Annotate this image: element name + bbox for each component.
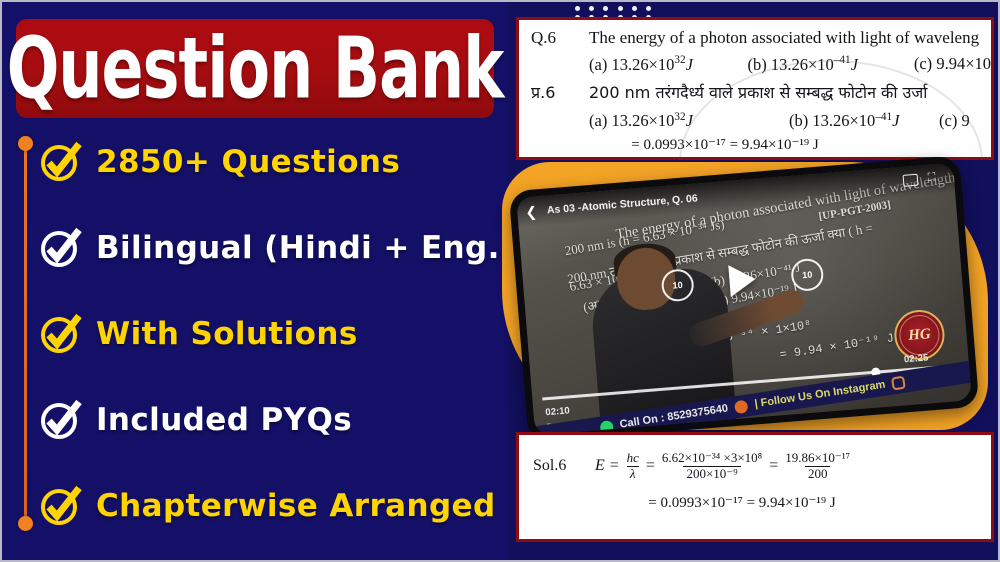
check-circle-icon (40, 314, 80, 354)
play-icon[interactable] (728, 263, 756, 297)
list-item: 2850+ Questions (40, 130, 500, 194)
title-banner: Question Bank (16, 19, 494, 118)
picture-in-picture-icon[interactable] (903, 174, 919, 187)
list-item: Chapterwise Arranged (40, 474, 500, 538)
instagram-icon (891, 375, 906, 390)
timeline-line (24, 142, 27, 524)
list-item: Bilingual (Hindi + Eng.) (40, 216, 500, 280)
board-line-10: = 9.94 × 10⁻¹⁹ J (779, 330, 895, 362)
video-time-total: 02:25 (904, 352, 929, 365)
fraction-numerator: 6.62×10⁻³⁴ ×3×10⁸ (659, 451, 765, 466)
rewind-10-button[interactable]: 10 (660, 268, 694, 302)
fraction-denominator: 200 (805, 466, 831, 482)
question-hindi-row: प्र.6 200 nm तरंगदैर्ध्य वाले प्रकाश से … (519, 75, 991, 103)
solution-result-line: = 0.0993×10⁻¹⁷ = 9.94×10⁻¹⁹ J (519, 481, 991, 512)
feature-list: 2850+ Questions Bilingual (Hindi + Eng.)… (40, 130, 500, 560)
fraction-denominator: 200×10⁻⁹ (683, 466, 740, 482)
fraction-hc-lambda: hc λ (624, 451, 642, 481)
option-b-english: (b) 13.26×10–41J (747, 54, 913, 75)
promo-panel: Question Bank 2850+ Questions Bilingual … (2, 2, 508, 560)
list-item-label: 2850+ Questions (96, 144, 400, 180)
content-column: Q.6 The energy of a photon associated wi… (508, 2, 1000, 560)
fraction-result-expression: 19.86×10⁻¹⁷ 200 (782, 451, 853, 481)
fraction-planck-expression: 6.62×10⁻³⁴ ×3×10⁸ 200×10⁻⁹ (659, 451, 765, 481)
option-a-hindi: (a) 13.26×1032J (589, 111, 789, 132)
video-player-phone[interactable]: The energy of a photon associated with l… (509, 155, 980, 442)
options-english: (a) 13.26×1032J (b) 13.26×10–41J (c) 9.9… (519, 48, 991, 75)
question-tag-hindi: प्र.6 (531, 81, 589, 103)
list-item: With Solutions (40, 302, 500, 366)
option-c-english: (c) 9.94×10 (914, 54, 991, 75)
question-english-row: Q.6 The energy of a photon associated wi… (519, 20, 991, 48)
option-c-hindi: (c) 9 (939, 111, 970, 132)
check-circle-icon (40, 400, 80, 440)
list-item-label: Chapterwise Arranged (96, 488, 496, 524)
list-item-label: Included PYQs (96, 402, 352, 438)
option-b-hindi: (b) 13.26×10–41J (789, 111, 939, 132)
list-item-label: Bilingual (Hindi + Eng.) (96, 230, 508, 266)
page-title: Question Bank (7, 19, 504, 117)
question-text-english: The energy of a photon associated with l… (589, 28, 979, 48)
option-a-english: (a) 13.26×1032J (589, 54, 747, 75)
timeline-dot-bottom (18, 516, 33, 531)
question-trailing-line: = 0.0993×10⁻¹⁷ = 9.94×10⁻¹⁹ J (519, 131, 991, 154)
question-text-hindi: 200 nm तरंगदैर्ध्य वाले प्रकाश से सम्बद्… (589, 81, 927, 103)
question-card: Q.6 The energy of a photon associated wi… (516, 17, 994, 160)
solution-tag: Sol.6 (533, 457, 595, 475)
phone-icon (734, 399, 749, 414)
video-title: As 03 -Atomic Structure, Q. 06 (547, 192, 699, 216)
check-circle-icon (40, 142, 80, 182)
video-screen[interactable]: The energy of a photon associated with l… (516, 163, 972, 435)
timeline-dot-top (18, 136, 33, 151)
video-time-current: 02:10 (545, 405, 570, 418)
fraction-denominator: λ (627, 466, 639, 482)
promo-graphic-canvas: Question Bank 2850+ Questions Bilingual … (0, 0, 1000, 562)
solution-lhs: E = (595, 457, 620, 475)
solution-card: Sol.6 E = hc λ = 6.62×10⁻³⁴ ×3×10⁸ 200×1… (516, 432, 994, 542)
list-item: Included PYQs (40, 388, 500, 452)
chevron-left-icon[interactable]: ❮ (525, 203, 538, 221)
fraction-numerator: 19.86×10⁻¹⁷ (782, 451, 853, 466)
logo-ring (898, 314, 941, 357)
question-tag-english: Q.6 (531, 28, 589, 48)
check-circle-icon (40, 228, 80, 268)
equals-sign-2: = (769, 457, 778, 475)
check-circle-icon (40, 486, 80, 526)
fullscreen-icon[interactable]: ⛶ (927, 171, 940, 184)
equals-sign-1: = (646, 457, 655, 475)
fraction-numerator: hc (624, 451, 642, 466)
forward-10-button[interactable]: 10 (790, 258, 824, 292)
solution-equation-row: Sol.6 E = hc λ = 6.62×10⁻³⁴ ×3×10⁸ 200×1… (519, 435, 991, 481)
list-item-label: With Solutions (96, 316, 358, 352)
options-hindi: (a) 13.26×1032J (b) 13.26×10–41J (c) 9 (519, 103, 991, 132)
